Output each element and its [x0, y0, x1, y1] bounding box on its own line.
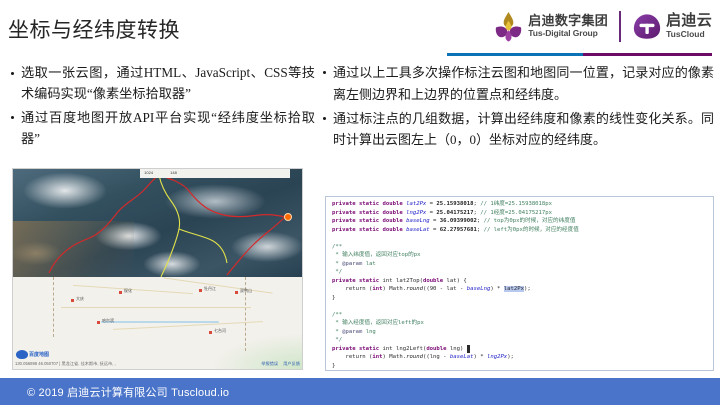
- page-title: 坐标与经纬度转换: [8, 14, 180, 44]
- left-bullet-list: 选取一张云图，通过HTML、JavaScript、CSS等技术编码实现“像素坐标…: [10, 62, 315, 150]
- brand-logos: 启迪数字集团 Tus-Digital Group: [494, 6, 712, 46]
- tuscloud-name-en: TusCloud: [666, 30, 712, 39]
- tus-digital-group-name-cn: 启迪数字集团: [528, 14, 608, 27]
- tus-digital-lotus-icon: [494, 11, 523, 42]
- map-city-label: 牡丹江: [204, 286, 216, 292]
- list-item: 选取一张云图，通过HTML、JavaScript、CSS等技术编码实现“像素坐标…: [10, 62, 315, 105]
- tuscloud-name-cn: 启迪云: [666, 13, 712, 28]
- rule-blue-segment: [447, 53, 583, 56]
- map-road: [61, 307, 251, 308]
- map-city-marker: 双鸭山: [235, 291, 238, 294]
- map-status-bar: 130.056898 46.050707 | 黑龙江省, 佳木斯市, 抚远市, …: [15, 360, 300, 368]
- left-content-column: 选取一张云图，通过HTML、JavaScript、CSS等技术编码实现“像素坐标…: [10, 62, 315, 152]
- map-city-label: 七台河: [214, 328, 226, 334]
- map-city-marker: 七台河: [209, 331, 212, 334]
- map-river: [101, 321, 219, 323]
- list-item: 通过百度地图开放API平台实现“经纬度坐标拾取器”: [10, 107, 315, 150]
- map-city-marker: 哈尔滨: [97, 321, 100, 324]
- map-city-label: 哈尔滨: [102, 318, 114, 324]
- map-city-label: 绥化: [124, 288, 132, 294]
- user-feedback-link[interactable]: 用户反馈: [283, 361, 300, 366]
- tus-digital-group-name-en: Tus-Digital Group: [528, 29, 608, 38]
- report-error-link[interactable]: 举报错误: [261, 361, 278, 366]
- tuscloud-logo: 启迪云 TusCloud: [632, 11, 712, 42]
- map-province-boundary: [53, 277, 54, 337]
- picked-pixel-marker[interactable]: [284, 213, 292, 221]
- map-city-label: 大庆: [76, 296, 84, 302]
- image-scale-strip: 1024 148: [140, 169, 290, 178]
- map-footer-links[interactable]: 举报错误 用户反馈: [257, 361, 300, 367]
- header-accent-rule: [447, 53, 712, 56]
- map-city-marker: 大庆: [71, 299, 74, 302]
- tuscloud-cloud-icon: [632, 11, 661, 42]
- map-coordinate-readout: 130.056898 46.050707 | 黑龙江省, 佳木斯市, 抚远市, …: [15, 361, 116, 367]
- list-item: 通过以上工具多次操作标注云图和地图同一位置，记录对应的像素离左侧边界和上边界的位…: [322, 62, 714, 106]
- baidu-paw-icon: [16, 350, 28, 359]
- right-bullet-list: 通过以上工具多次操作标注云图和地图同一位置，记录对应的像素离左侧边界和上边界的位…: [322, 62, 714, 151]
- copyright-text: © 2019 启迪云计算有限公司 Tuscloud.io: [27, 384, 229, 400]
- baidu-map-logo: 百度地图: [16, 350, 49, 359]
- province-border-overlay: [13, 169, 302, 277]
- slide-footer: © 2019 启迪云计算有限公司 Tuscloud.io: [0, 378, 720, 405]
- right-content-column: 通过以上工具多次操作标注云图和地图同一位置，记录对应的像素离左侧边界和上边界的位…: [322, 62, 714, 153]
- satellite-cloud-and-baidu-map-figure: 1024 148 大庆 绥化 哈尔滨 牡丹江 双鸭山 七台河 百度地图: [12, 168, 303, 370]
- list-item: 通过标注点的几组数据，计算出经纬度和像素的线性变化关系。同时计算出云图左上（0，…: [322, 108, 714, 152]
- map-road: [73, 285, 193, 294]
- code-editor-screenshot: private static double lat2Px = 25.159380…: [325, 196, 714, 371]
- map-city-marker: 绥化: [119, 291, 122, 294]
- tus-digital-group-logo: 启迪数字集团 Tus-Digital Group: [494, 11, 608, 42]
- slide-root: 坐标与经纬度转换 启迪数字集团 Tus-Digital Group: [0, 0, 720, 405]
- baidu-map-logo-text: 百度地图: [29, 351, 49, 358]
- map-city-label: 双鸭山: [240, 288, 252, 294]
- strip-label-left: 1024: [144, 170, 153, 175]
- rule-purple-segment: [583, 53, 712, 56]
- map-city-marker: 牡丹江: [199, 289, 202, 292]
- map-road: [163, 277, 272, 293]
- strip-label-right: 148: [170, 170, 177, 175]
- baidu-map-panel[interactable]: 大庆 绥化 哈尔滨 牡丹江 双鸭山 七台河 百度地图 130.056898 46…: [13, 277, 302, 369]
- java-source-code: private static double lat2Px = 25.159380…: [326, 197, 713, 370]
- satellite-cloud-image: 1024 148: [13, 169, 302, 277]
- logo-divider: [619, 11, 621, 42]
